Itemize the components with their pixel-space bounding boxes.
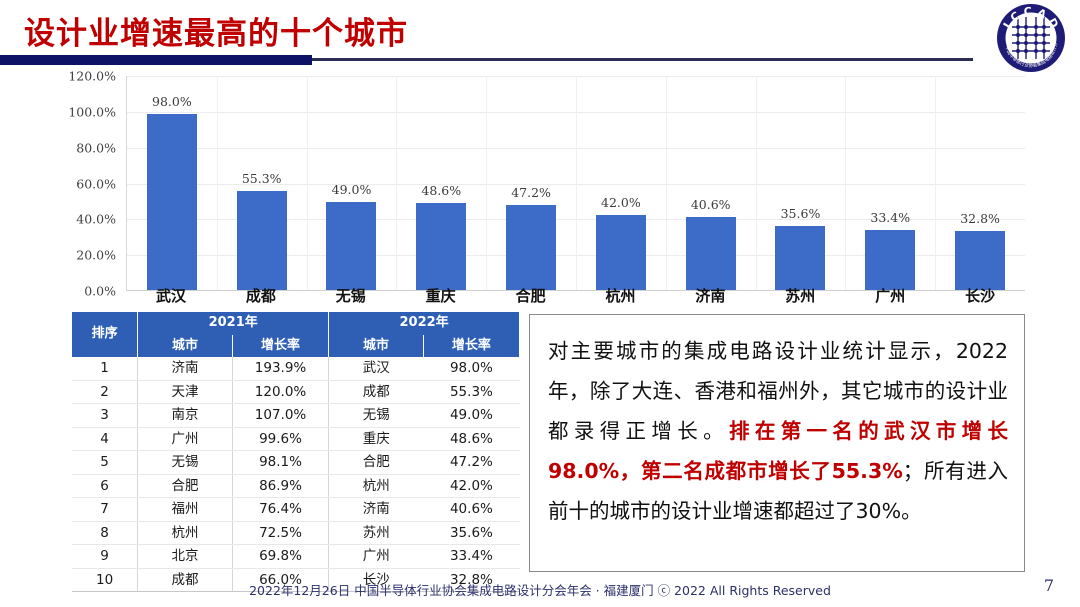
bar-cell: 42.0% (576, 76, 666, 290)
rank-cell: 5 (72, 451, 138, 475)
rate-2022-cell: 35.6% (423, 521, 519, 545)
title-underline-thick (0, 55, 312, 65)
bar: 55.3% (237, 191, 287, 290)
rank-cell: 4 (72, 427, 138, 451)
x-axis-label: 合肥 (486, 285, 576, 306)
rate-2021-cell: 99.6% (232, 427, 328, 451)
bar: 42.0% (596, 215, 646, 290)
slide-root: 设计业增速最高的十个城市 (0, 0, 1080, 607)
bar-value-label: 47.2% (511, 185, 551, 200)
x-axis-label: 苏州 (755, 285, 845, 306)
th-group-2022: 2022年 (329, 312, 520, 335)
rate-2022-cell: 49.0% (423, 404, 519, 428)
bar-cell: 32.8% (935, 76, 1025, 290)
commentary-text: 对主要城市的集成电路设计业统计显示，2022年，除了大连、香港和福州外，其它城市… (548, 331, 1008, 531)
rank-cell: 9 (72, 545, 138, 569)
bar: 98.0% (147, 114, 197, 290)
growth-rate-table: 排序 2021年 2022年 城市 增长率 城市 增长率 1济南193.9%武汉… (72, 312, 520, 592)
bar-value-label: 48.6% (421, 183, 461, 198)
bar-value-label: 98.0% (152, 94, 192, 109)
city-2022-cell: 武汉 (329, 357, 424, 380)
y-axis-tick: 100.0% (68, 104, 116, 119)
rank-cell: 1 (72, 357, 138, 380)
city-2022-cell: 苏州 (329, 521, 424, 545)
bar-cell: 40.6% (666, 76, 756, 290)
th-city-2022: 城市 (329, 335, 424, 358)
page-title: 设计业增速最高的十个城市 (24, 8, 408, 53)
city-2021-cell: 济南 (138, 357, 233, 380)
iccad-logo: ICCAD 中国半导体行业协会集成电路设计分会 (996, 3, 1066, 73)
th-rate-2021: 增长率 (232, 335, 328, 358)
rank-cell: 8 (72, 521, 138, 545)
table-row: 9北京69.8%广州33.4% (72, 545, 520, 569)
rank-cell: 3 (72, 404, 138, 428)
y-axis-tick: 20.0% (76, 248, 116, 263)
table-group-header-row: 排序 2021年 2022年 (72, 312, 520, 335)
city-2022-cell: 广州 (329, 545, 424, 569)
rank-cell: 7 (72, 498, 138, 522)
bar-value-label: 33.4% (870, 210, 910, 225)
rate-2022-cell: 48.6% (423, 427, 519, 451)
rate-2021-cell: 72.5% (232, 521, 328, 545)
bar: 47.2% (506, 205, 556, 290)
table-row: 7福州76.4%济南40.6% (72, 498, 520, 522)
table-row: 8杭州72.5%苏州35.6% (72, 521, 520, 545)
rate-2022-cell: 42.0% (423, 474, 519, 498)
rank-cell: 6 (72, 474, 138, 498)
bar-cell: 98.0% (127, 76, 217, 290)
iccad-logo-icon: ICCAD 中国半导体行业协会集成电路设计分会 (996, 3, 1066, 73)
city-2021-cell: 广州 (138, 427, 233, 451)
bar-value-label: 42.0% (601, 195, 641, 210)
bar-cell: 49.0% (307, 76, 397, 290)
th-group-2021: 2021年 (138, 312, 329, 335)
city-2022-cell: 重庆 (329, 427, 424, 451)
bar-value-label: 49.0% (332, 182, 372, 197)
bar: 49.0% (326, 202, 376, 290)
rate-2022-cell: 33.4% (423, 545, 519, 569)
y-axis-tick: 120.0% (68, 69, 116, 84)
rate-2022-cell: 55.3% (423, 380, 519, 404)
rate-2022-cell: 47.2% (423, 451, 519, 475)
city-2021-cell: 合肥 (138, 474, 233, 498)
chart-bars: 98.0%55.3%49.0%48.6%47.2%42.0%40.6%35.6%… (127, 76, 1025, 290)
bar-value-label: 35.6% (781, 206, 821, 221)
th-rate-2022: 增长率 (423, 335, 519, 358)
city-2021-cell: 北京 (138, 545, 233, 569)
city-2022-cell: 合肥 (329, 451, 424, 475)
y-axis-tick: 40.0% (76, 212, 116, 227)
city-2021-cell: 天津 (138, 380, 233, 404)
city-2022-cell: 无锡 (329, 404, 424, 428)
table-body: 1济南193.9%武汉98.0%2天津120.0%成都55.3%3南京107.0… (72, 357, 520, 592)
bar: 48.6% (416, 203, 466, 290)
bar-value-label: 55.3% (242, 171, 282, 186)
rate-2022-cell: 40.6% (423, 498, 519, 522)
rate-2021-cell: 86.9% (232, 474, 328, 498)
bar: 32.8% (955, 231, 1005, 290)
city-2022-cell: 杭州 (329, 474, 424, 498)
rate-2021-cell: 120.0% (232, 380, 328, 404)
city-2021-cell: 无锡 (138, 451, 233, 475)
bar-cell: 47.2% (486, 76, 576, 290)
bar-cell: 55.3% (217, 76, 307, 290)
city-2022-cell: 成都 (329, 380, 424, 404)
city-2021-cell: 杭州 (138, 521, 233, 545)
bar-cell: 33.4% (845, 76, 935, 290)
table-row: 6合肥86.9%杭州42.0% (72, 474, 520, 498)
rank-cell: 2 (72, 380, 138, 404)
footer-text: 2022年12月26日 中国半导体行业协会集成电路设计分会年会 · 福建厦门 ⓒ… (0, 580, 1080, 599)
y-axis-tick: 60.0% (76, 176, 116, 191)
rate-2021-cell: 107.0% (232, 404, 328, 428)
chart-plot-area: 98.0%55.3%49.0%48.6%47.2%42.0%40.6%35.6%… (126, 76, 1025, 291)
commentary-box: 对主要城市的集成电路设计业统计显示，2022年，除了大连、香港和福州外，其它城市… (529, 314, 1025, 572)
table-row: 4广州99.6%重庆48.6% (72, 427, 520, 451)
table-row: 3南京107.0%无锡49.0% (72, 404, 520, 428)
rate-2021-cell: 193.9% (232, 357, 328, 380)
x-axis-label: 成都 (216, 285, 306, 306)
y-axis-tick: 0.0% (84, 284, 116, 299)
bar: 40.6% (686, 217, 736, 290)
table-row: 5无锡98.1%合肥47.2% (72, 451, 520, 475)
bar: 33.4% (865, 230, 915, 290)
th-rank: 排序 (72, 312, 138, 357)
bar-value-label: 40.6% (691, 197, 731, 212)
city-2022-cell: 济南 (329, 498, 424, 522)
bar-cell: 48.6% (396, 76, 486, 290)
city-2021-cell: 南京 (138, 404, 233, 428)
chart-x-axis: 武汉成都无锡重庆合肥杭州济南苏州广州长沙 (126, 285, 1025, 306)
table-row: 1济南193.9%武汉98.0% (72, 357, 520, 380)
chart-y-axis: 0.0%20.0%40.0%60.0%80.0%100.0%120.0% (60, 76, 122, 291)
bar-value-label: 32.8% (960, 211, 1000, 226)
rate-2021-cell: 98.1% (232, 451, 328, 475)
bar: 35.6% (775, 226, 825, 290)
rate-2021-cell: 69.8% (232, 545, 328, 569)
page-number: 7 (1044, 576, 1054, 595)
title-underline-thin (312, 58, 973, 61)
x-axis-label: 重庆 (396, 285, 486, 306)
bar-chart: 0.0%20.0%40.0%60.0%80.0%100.0%120.0% 98.… (60, 76, 1025, 291)
x-axis-label: 长沙 (935, 285, 1025, 306)
x-axis-label: 济南 (665, 285, 755, 306)
table-row: 2天津120.0%成都55.3% (72, 380, 520, 404)
table-head: 排序 2021年 2022年 城市 增长率 城市 增长率 (72, 312, 520, 357)
rate-2022-cell: 98.0% (423, 357, 519, 380)
x-axis-label: 武汉 (126, 285, 216, 306)
bar-cell: 35.6% (756, 76, 846, 290)
x-axis-label: 杭州 (576, 285, 666, 306)
table-sub-header-row: 城市 增长率 城市 增长率 (72, 335, 520, 358)
y-axis-tick: 80.0% (76, 140, 116, 155)
x-axis-label: 广州 (845, 285, 935, 306)
x-axis-label: 无锡 (306, 285, 396, 306)
rate-2021-cell: 76.4% (232, 498, 328, 522)
th-city-2021: 城市 (138, 335, 233, 358)
city-2021-cell: 福州 (138, 498, 233, 522)
